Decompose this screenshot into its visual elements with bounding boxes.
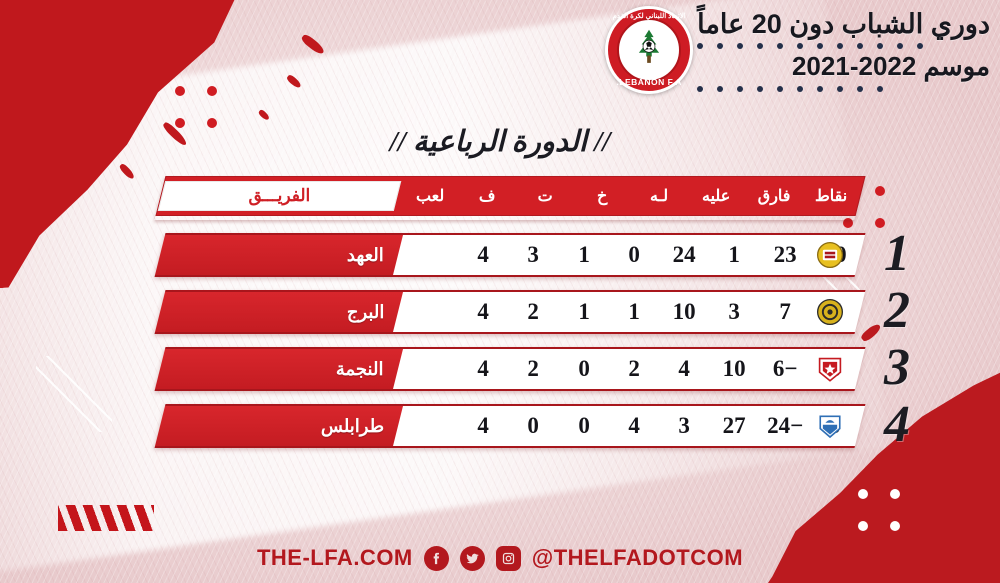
cedar-tree-icon [626,26,672,72]
facebook-icon[interactable] [424,546,449,571]
column-header-losses: خ [573,186,630,206]
team-name-label: طرابلس [321,416,384,437]
cell-losses: 0 [609,242,659,268]
cell-goals-against: 27 [709,413,759,439]
cell-losses: 4 [609,413,659,439]
column-header-goal-difference: فارق [745,186,802,206]
table-row-body: 773101124البرج [155,290,866,334]
column-header-goals-against: عليه [688,186,745,206]
table-header-columns: نقاط فارق عليه لـه خ ت ف لعب [399,186,862,206]
column-header-team: الفريـــق [158,181,401,211]
table-header-row: نقاط فارق عليه لـه خ ت ف لعب الفريـــق [155,176,866,220]
team-logo-slot [795,349,865,389]
cell-losses: 2 [609,356,659,382]
dot-row-upper [697,43,988,49]
twitter-icon[interactable] [460,546,485,571]
cell-goals-against: 3 [709,299,759,325]
rank-number: 2 [884,285,910,337]
competition-title: دوري الشباب دون 20 عاماً [697,10,990,38]
cell-goals-against: 1 [709,242,759,268]
team-name-band[interactable]: العهد [155,235,403,275]
rank-number: 1 [884,228,910,280]
cell-wins: 2 [508,356,558,382]
cell-played: 4 [458,299,508,325]
cell-draws: 1 [559,299,609,325]
cell-goals-for: 3 [659,413,709,439]
table-header-bar: نقاط فارق عليه لـه خ ت ف لعب الفريـــق [156,176,866,216]
cell-goals-against: 10 [709,356,759,382]
al-nejmeh-logo [817,356,843,382]
diagonal-stripes-decoration [58,505,154,531]
table-row: 10231240134العهد1 [160,233,860,277]
column-header-draws: ت [516,186,573,206]
dot-cluster-top-left [175,86,217,128]
page-subtitle: // الدورة الرباعية // [0,124,1000,159]
website-label[interactable]: THE-LFA.COM [257,545,413,571]
table-row: 0−242734004طرابلس4 [160,404,860,448]
team-name-label: العهد [347,245,384,266]
column-header-team-label: الفريـــق [249,186,311,206]
standings-table: نقاط فارق عليه لـه خ ت ف لعب الفريـــق 1… [160,176,860,448]
social-handle-label[interactable]: @THELFADOTCOM [532,545,743,571]
al-burj-logo [817,299,843,325]
table-row: 773101124البرج2 [160,290,860,334]
table-body: 10231240134العهد1773101124البرج26−610420… [160,233,860,448]
dot-cluster-bottom-right [858,489,900,531]
table-row: 6−61042024النجمة3 [160,347,860,391]
cell-goals-for: 24 [659,242,709,268]
lebanon-fa-badge-icon: الاتحاد اللبناني لكرة القدم LEBANON F.A. [605,6,693,94]
title-block: دوري الشباب دون 20 عاماً موسم 2022-2021 [697,6,990,96]
badge-arabic-text: الاتحاد اللبناني لكرة القدم [608,12,690,20]
cell-played: 4 [458,356,508,382]
table-row-body: 0−242734004طرابلس [155,404,866,448]
rank-number: 4 [884,399,910,451]
al-ahed-logo [817,242,843,268]
badge-latin-text: LEBANON F.A. [608,77,690,87]
cell-draws: 1 [559,242,609,268]
column-header-goals-for: لـه [630,186,687,206]
cell-draws: 0 [559,356,609,382]
column-header-wins: ف [459,186,516,206]
cell-losses: 1 [609,299,659,325]
team-name-label: البرج [347,302,384,323]
team-name-band[interactable]: النجمة [155,349,403,389]
table-row-body: 10231240134العهد [155,233,866,277]
cell-wins: 2 [508,299,558,325]
table-row-body: 6−61042024النجمة [155,347,866,391]
team-name-band[interactable]: طرابلس [155,406,403,446]
cell-wins: 3 [508,242,558,268]
rank-number: 3 [884,342,910,394]
footer-bar: THE-LFA.COM @THELFADOTCOM [0,545,1000,571]
x-mark-decoration-left [36,356,112,432]
cell-played: 4 [458,242,508,268]
cell-wins: 0 [508,413,558,439]
instagram-icon[interactable] [496,546,521,571]
cell-goals-for: 4 [659,356,709,382]
cell-draws: 0 [559,413,609,439]
team-name-band[interactable]: البرج [155,292,403,332]
team-logo-slot [795,406,865,446]
team-logo-slot [795,292,865,332]
column-header-played: لعب [401,186,458,206]
column-header-points: نقاط [802,186,859,206]
dot-row-lower [697,86,988,92]
team-name-label: النجمة [336,359,384,380]
season-label: موسم 2022-2021 [697,53,990,80]
header-bar: دوري الشباب دون 20 عاماً موسم 2022-2021 … [605,0,1000,96]
cell-played: 4 [458,413,508,439]
tripoli-logo [817,413,843,439]
cell-goals-for: 10 [659,299,709,325]
team-logo-slot [795,235,865,275]
